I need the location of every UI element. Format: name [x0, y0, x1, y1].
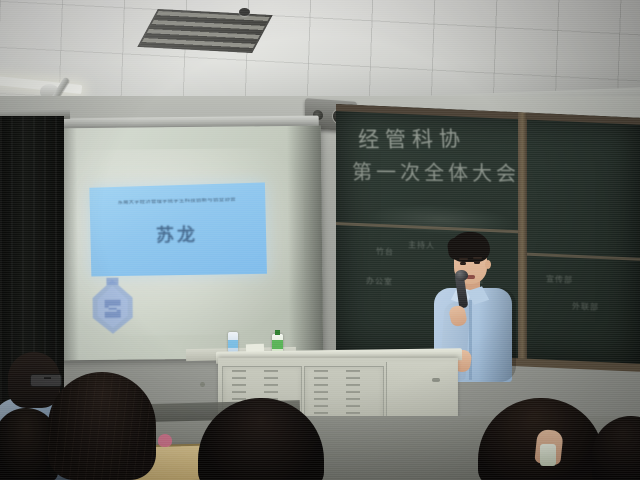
- lectern-knob: [200, 382, 205, 387]
- audience-held-object: [540, 444, 556, 466]
- blackboard-note-5: 外联部: [572, 301, 599, 314]
- blackboard-note-4: 宣传部: [546, 274, 573, 287]
- audience-member-long-hair: [48, 372, 156, 480]
- microphone-head-icon: [455, 270, 468, 281]
- lectern-handle: [432, 378, 440, 382]
- lectern-vent-slots-4: [346, 370, 360, 416]
- speaker-eye-left: [460, 262, 466, 265]
- lectern-vent-slots-3: [314, 370, 328, 416]
- eyeglasses-icon: [30, 374, 62, 387]
- pink-object: [158, 434, 172, 447]
- projected-slide: 东南大学经济管理学院学生科技创新与创业协会 苏龙: [89, 182, 267, 276]
- water-bottle-blue-icon: [228, 332, 238, 352]
- speaker-eyebrow-right: [473, 257, 482, 259]
- blackboard-note-2: 办公室: [366, 275, 393, 288]
- blackboard-divider-horizontal-right: [527, 253, 640, 261]
- speaker-eyebrow-left: [459, 258, 468, 260]
- slide-title-text: 苏龙: [90, 219, 266, 249]
- association-logo-icon: [86, 278, 139, 337]
- screen-shadow-right: [287, 126, 323, 358]
- slide-header-text: 东南大学经济管理学院学生科技创新与创业协会: [95, 197, 259, 207]
- lecture-hall-photo: 经管科协 第一次全体大会 竹台 主持人 办公室 就业 宣传部 外联部 东南大学经…: [0, 0, 640, 480]
- blackboard-headline-1: 经管科协: [357, 123, 466, 154]
- blackboard-headline-2: 第一次全体大会: [352, 156, 521, 187]
- speaker-ear: [485, 260, 491, 269]
- projection-screen: 东南大学经济管理学院学生科技创新与创业协会 苏龙: [55, 126, 323, 361]
- blackboard-note-0: 竹台: [376, 246, 394, 259]
- speaker-eye-right: [474, 261, 480, 264]
